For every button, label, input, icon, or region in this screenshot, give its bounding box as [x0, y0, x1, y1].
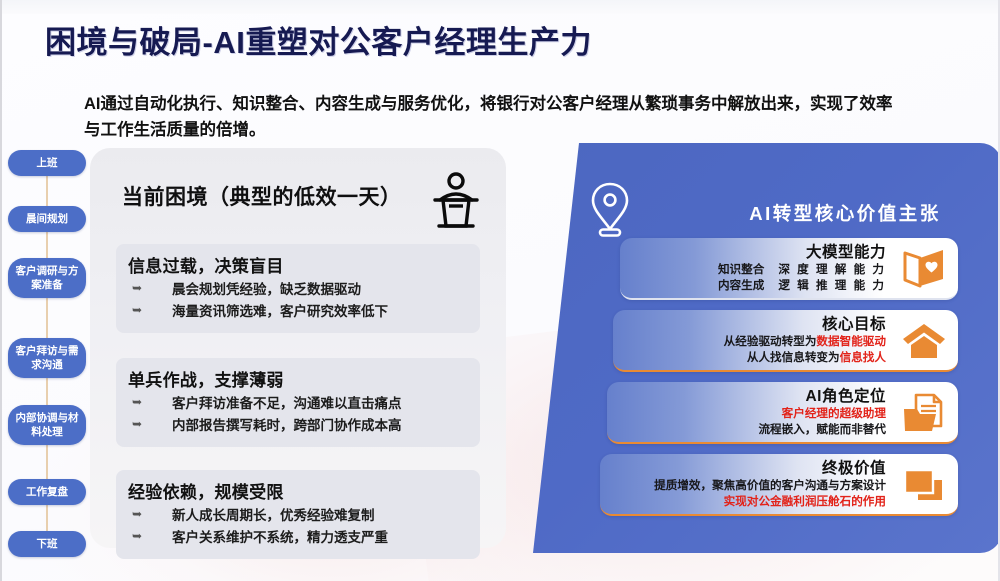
value-card-2-line-1-plain: 从人找信息转变为	[747, 351, 840, 364]
timeline-rail: 上班 晨间规划 客户调研与方案准备 客户拜访与需求沟通 内部协调与材料处理 工作…	[2, 150, 94, 565]
pain-block-1-item-0: ➥ 晨会规划凭经验，缺乏数据驱动	[128, 279, 468, 301]
bullet-arrow-icon: ➥	[128, 393, 172, 415]
bullet-arrow-icon: ➥	[128, 527, 172, 549]
timeline-item-6[interactable]: 下班	[8, 531, 86, 557]
pain-block-2: 单兵作战，支撑薄弱 ➥ 客户拜访准备不足，沟通难以直击痛点 ➥ 内部报告撰写耗时…	[116, 358, 480, 447]
pain-block-1-item-1-text: 海量资讯筛选难，客户研究效率低下	[172, 301, 388, 323]
value-card-3-title: AI角色定位	[628, 387, 886, 406]
page-title: 困境与破局-AI重塑对公客户经理生产力	[45, 17, 592, 62]
value-card-2-line-1-highlight: 信息找人	[840, 351, 886, 364]
pain-block-2-item-0: ➥ 客户拜访准备不足，沟通难以直击痛点	[128, 393, 468, 415]
value-card-ai-role[interactable]: AI角色定位 客户经理的超级助理 流程嵌入，赋能而非替代	[607, 382, 958, 444]
pain-block-3-head: 经验依赖，规模受限	[128, 478, 468, 503]
book-heart-icon	[900, 246, 948, 292]
value-card-1-row-0-right: 深 度 理 解 能 力	[778, 262, 886, 278]
pain-block-2-item-1-text: 内部报告撰写耗时，跨部门协作成本高	[172, 415, 402, 437]
value-card-1-row-0-left: 知识整合	[718, 262, 764, 278]
value-card-2-line-0-plain: 从经验驱动转型为	[724, 335, 817, 348]
background-wash-top	[2, 0, 998, 14]
folder-doc-icon	[900, 390, 948, 436]
pain-block-1-item-1: ➥ 海量资讯筛选难，客户研究效率低下	[128, 301, 468, 323]
pain-block-2-item-1: ➥ 内部报告撰写耗时，跨部门协作成本高	[128, 415, 468, 437]
pain-block-3-item-1-text: 客户关系维护不系统，精力透支严重	[172, 527, 388, 549]
value-card-4-line-1: 实现对公金融利润压舱石的作用	[628, 494, 886, 510]
value-card-4-line-1-highlight: 实现对公金融利润压舱石的作用	[724, 495, 886, 508]
timeline-item-2[interactable]: 客户调研与方案准备	[8, 258, 86, 298]
timeline-item-0[interactable]: 上班	[8, 150, 86, 176]
value-card-core-goal[interactable]: 核心目标 从经验驱动转型为数据智能驱动 从人找信息转变为信息找人	[613, 310, 958, 372]
pain-block-2-head: 单兵作战，支撑薄弱	[128, 366, 468, 391]
value-card-2-line-0-highlight: 数据智能驱动	[816, 335, 886, 348]
bullet-arrow-icon: ➥	[128, 301, 172, 323]
value-card-3-line-1: 流程嵌入，赋能而非替代	[628, 422, 886, 438]
timeline-item-4[interactable]: 内部协调与材料处理	[8, 405, 86, 445]
value-card-1-row-1-right: 逻 辑 推 理 能 力	[778, 278, 886, 294]
pain-block-2-item-0-text: 客户拜访准备不足，沟通难以直击痛点	[172, 393, 402, 415]
intro-paragraph: AI通过自动化执行、知识整合、内容生成与服务优化，将银行对公客户经理从繁琐事务中…	[84, 92, 904, 143]
pain-block-1-head: 信息过载，决策盲目	[128, 252, 468, 277]
slide-canvas: 困境与破局-AI重塑对公客户经理生产力 AI通过自动化执行、知识整合、内容生成与…	[0, 0, 1000, 581]
timeline-item-5[interactable]: 工作复盘	[8, 479, 86, 505]
value-card-2-line-0: 从经验驱动转型为数据智能驱动	[628, 334, 886, 350]
value-card-3-line-0-highlight: 客户经理的超级助理	[782, 407, 886, 420]
timeline-item-3[interactable]: 客户拜访与需求沟通	[8, 338, 86, 378]
podium-icon	[430, 172, 482, 228]
value-card-1-row-1-left: 内容生成	[718, 278, 764, 294]
value-card-4-title: 终极价值	[628, 459, 886, 478]
pain-block-3-item-1: ➥ 客户关系维护不系统，精力透支严重	[128, 527, 468, 549]
value-card-4-line-0: 提质增效，聚焦高价值的客户沟通与方案设计	[628, 478, 886, 494]
value-card-large-model[interactable]: 大模型能力 知识整合 深 度 理 解 能 力 内容生成 逻 辑 推 理 能 力	[620, 238, 958, 300]
house-icon	[900, 318, 948, 364]
bullet-arrow-icon: ➥	[128, 279, 172, 301]
value-card-2-title: 核心目标	[628, 315, 886, 334]
value-card-1-row-0: 知识整合 深 度 理 解 能 力	[628, 262, 886, 278]
pain-block-3-item-0-text: 新人成长周期长，优秀经验难复制	[172, 505, 375, 527]
value-card-ultimate-value[interactable]: 终极价值 提质增效，聚焦高价值的客户沟通与方案设计 实现对公金融利润压舱石的作用	[600, 454, 958, 516]
value-card-1-row-1: 内容生成 逻 辑 推 理 能 力	[628, 278, 886, 294]
pain-points-card: 当前困境（典型的低效一天） 信息过载，决策盲目 ➥ 晨会规划凭经验，缺乏数据驱动…	[90, 148, 506, 548]
map-pin-icon	[590, 181, 630, 239]
value-card-2-line-1: 从人找信息转变为信息找人	[628, 350, 886, 366]
pain-block-3: 经验依赖，规模受限 ➥ 新人成长周期长，优秀经验难复制 ➥ 客户关系维护不系统，…	[116, 470, 480, 559]
stacked-windows-icon	[900, 462, 948, 508]
value-card-1-title: 大模型能力	[628, 243, 886, 262]
bullet-arrow-icon: ➥	[128, 505, 172, 527]
timeline-item-1[interactable]: 晨间规划	[8, 206, 86, 232]
value-card-3-line-0: 客户经理的超级助理	[628, 406, 886, 422]
pain-block-1: 信息过载，决策盲目 ➥ 晨会规划凭经验，缺乏数据驱动 ➥ 海量资讯筛选难，客户研…	[116, 244, 480, 333]
value-card-4-line-0-plain: 提质增效，聚焦高价值的客户沟通与方案设计	[654, 479, 886, 492]
value-card-3-line-1-plain: 流程嵌入，赋能而非替代	[758, 423, 886, 436]
pain-block-3-item-0: ➥ 新人成长周期长，优秀经验难复制	[128, 505, 468, 527]
pain-card-title: 当前困境（典型的低效一天）	[122, 181, 402, 211]
ai-panel-title: AI转型核心价值主张	[710, 200, 980, 226]
bullet-arrow-icon: ➥	[128, 415, 172, 437]
pain-block-1-item-0-text: 晨会规划凭经验，缺乏数据驱动	[172, 279, 361, 301]
